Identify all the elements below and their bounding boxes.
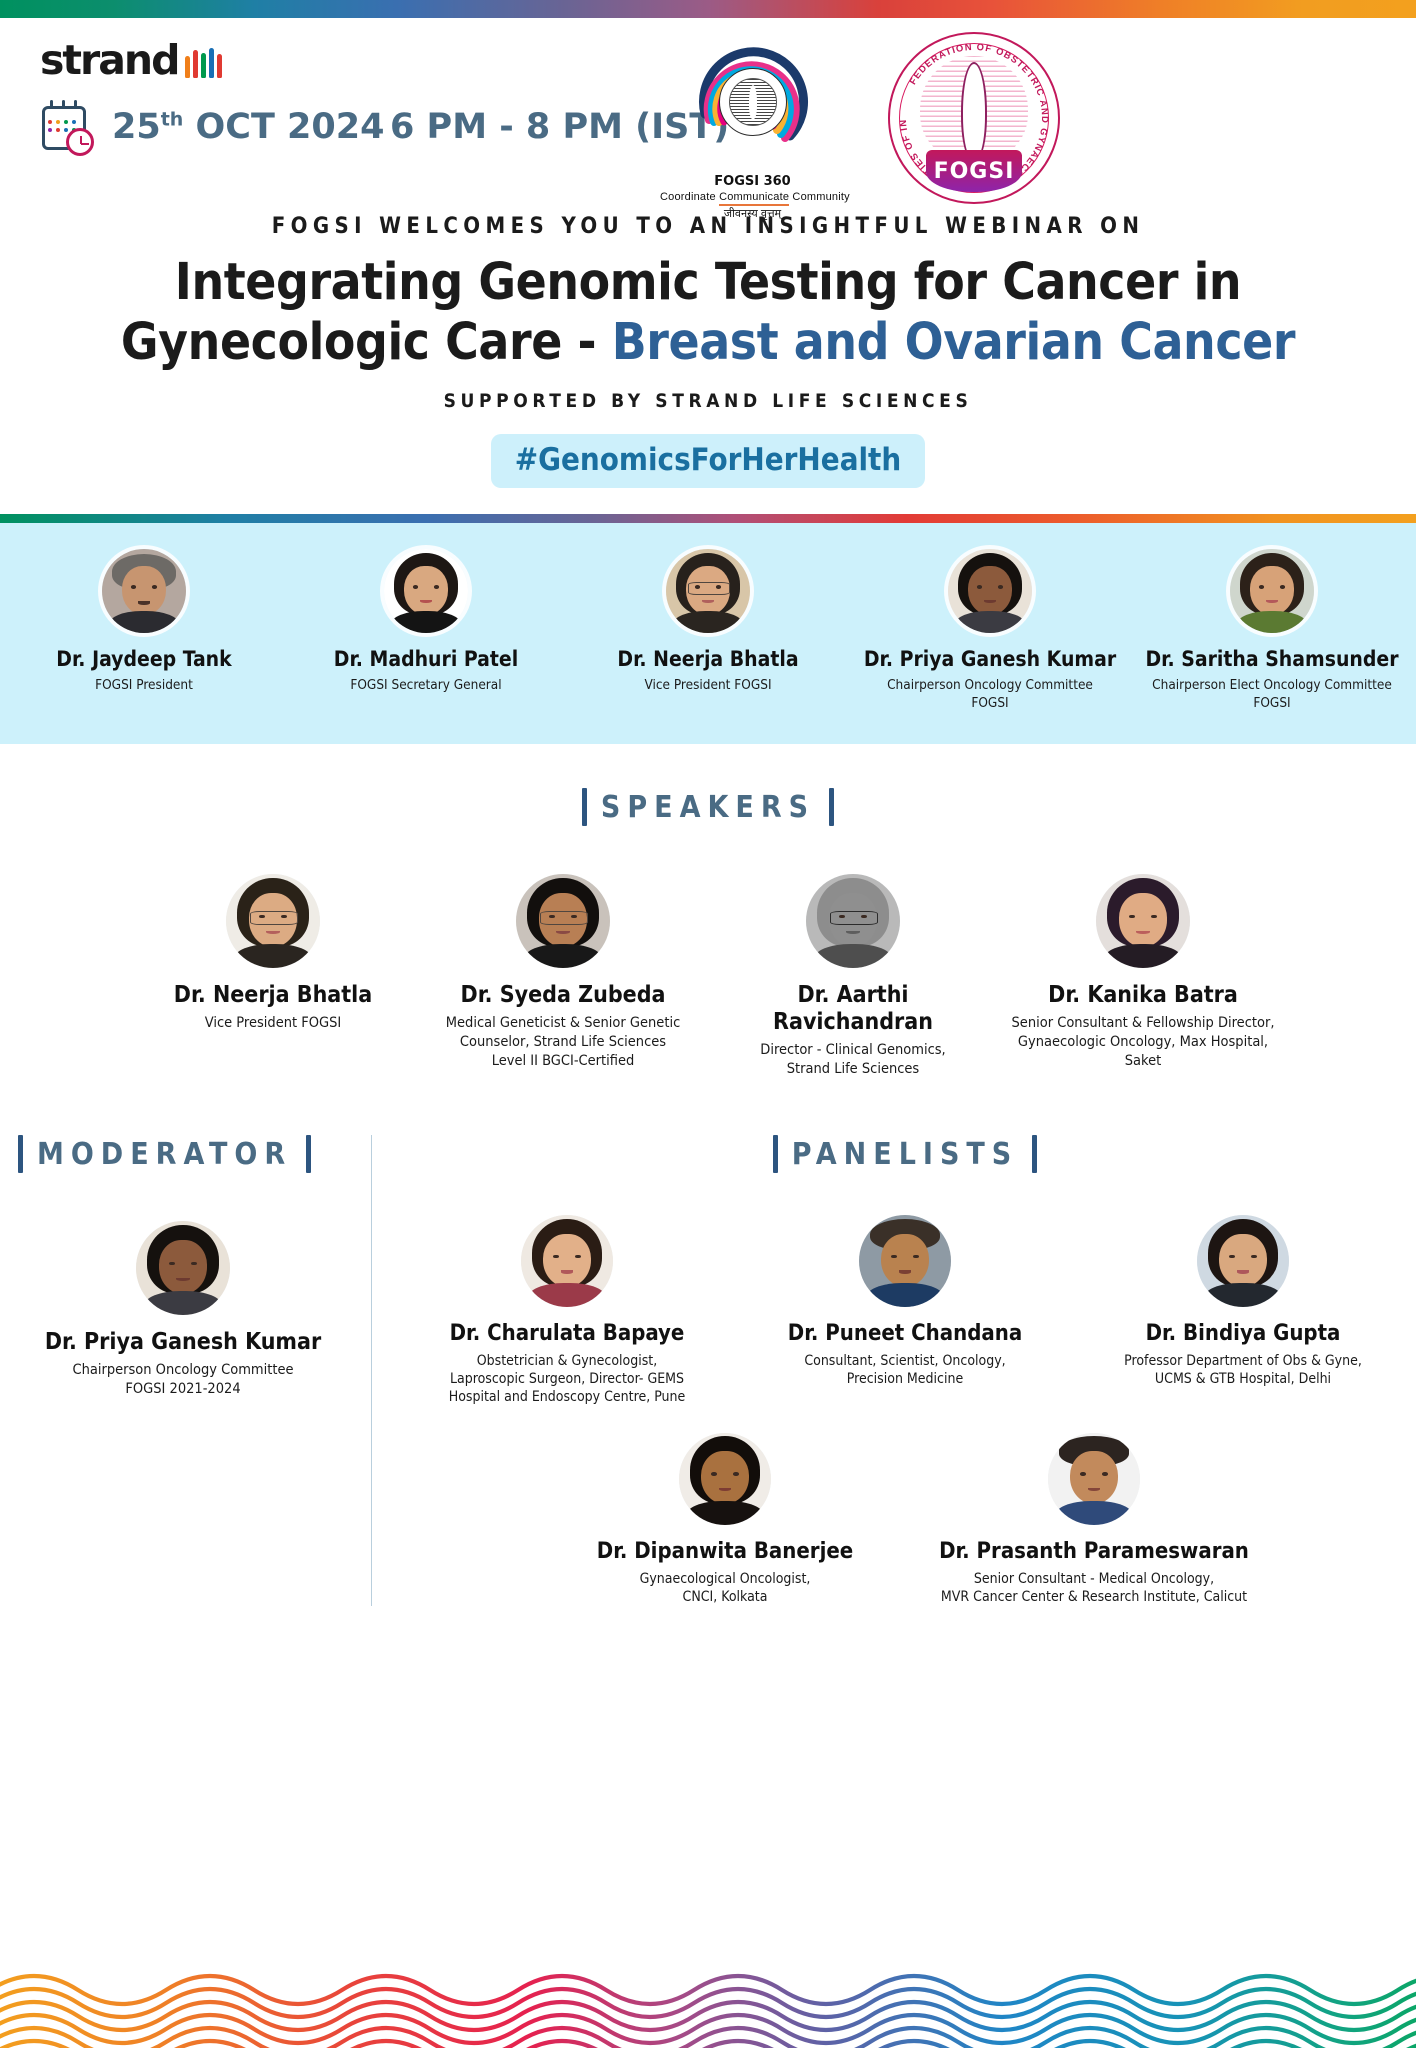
event-date: 25th OCT 2024 bbox=[112, 107, 384, 147]
panelists-row-1: Dr. Charulata Bapaye Obstetrician & Gyne… bbox=[394, 1215, 1416, 1407]
fogsi-emblem-outer-ring: FEDERATION OF OBSTETRIC AND GYNAECOLOGIC… bbox=[888, 32, 1060, 204]
heading-bar-right-icon bbox=[829, 788, 834, 826]
moderator-heading-label: MODERATOR bbox=[37, 1137, 292, 1172]
panelist-role: Obstetrician & Gynecologist, Laproscopic… bbox=[406, 1352, 728, 1407]
dignitary-card: Dr. Madhuri Patel FOGSI Secretary Genera… bbox=[285, 549, 567, 694]
fogsi-emblem-ribbon: FOGSI bbox=[926, 150, 1022, 192]
avatar bbox=[1197, 1215, 1289, 1307]
speakers-heading-label: SPEAKERS bbox=[601, 790, 815, 825]
dignitaries-band: Dr. Jaydeep Tank FOGSI President Dr. Mad… bbox=[0, 523, 1416, 744]
panelists-heading-label: PANELISTS bbox=[792, 1137, 1018, 1172]
fogsi-360-tagline: Coordinate Communicate Community bbox=[660, 191, 845, 203]
moderator-name: Dr. Priya Ganesh Kumar bbox=[26, 1329, 340, 1356]
speaker-role: Senior Consultant & Fellowship Director,… bbox=[1006, 1014, 1280, 1071]
panelists-column: PANELISTS Dr. Charulata Bapaye Obstetric… bbox=[372, 1135, 1416, 1606]
supported-by-text: SUPPORTED BY STRAND LIFE SCIENCES bbox=[0, 390, 1416, 412]
fogsi-360-title: FOGSI 360 bbox=[660, 174, 845, 189]
bottom-wave-decoration bbox=[0, 1940, 1416, 2048]
strand-life-sciences-logo: strand bbox=[40, 40, 222, 81]
avatar bbox=[806, 874, 900, 968]
avatar bbox=[1230, 549, 1314, 633]
avatar bbox=[666, 549, 750, 633]
avatar bbox=[1048, 1433, 1140, 1525]
panelist-role: Gynaecological Oncologist, CNCI, Kolkata bbox=[564, 1570, 886, 1606]
speakers-row: Dr. Neerja Bhatla Vice President FOGSI D… bbox=[0, 874, 1416, 1079]
moderator-heading: MODERATOR bbox=[18, 1135, 371, 1173]
panelist-name: Dr. Bindiya Gupta bbox=[1082, 1321, 1404, 1347]
avatar bbox=[521, 1215, 613, 1307]
speaker-card: Dr. Neerja Bhatla Vice President FOGSI bbox=[128, 874, 418, 1033]
avatar bbox=[226, 874, 320, 968]
moderator-panelists-section: MODERATOR Dr. Priya Ganesh Kumar Chairpe… bbox=[0, 1135, 1416, 1606]
speakers-section: SPEAKERS Dr. Neerja Bhatla Vice Presiden… bbox=[0, 744, 1416, 1079]
speaker-name: Dr. Syeda Zubeda bbox=[426, 982, 700, 1009]
speaker-role: Director - Clinical Genomics, Strand Lif… bbox=[716, 1041, 990, 1079]
dignitary-role: Chairperson Oncology Committee FOGSI bbox=[857, 677, 1123, 712]
dignitary-name: Dr. Saritha Shamsunder bbox=[1139, 647, 1405, 672]
panelist-card: Dr. Dipanwita Banerjee Gynaecological On… bbox=[556, 1433, 894, 1606]
moderator-card: Dr. Priya Ganesh Kumar Chairperson Oncol… bbox=[18, 1221, 348, 1399]
dignitaries-row: Dr. Jaydeep Tank FOGSI President Dr. Mad… bbox=[0, 549, 1416, 712]
dignitary-role: FOGSI Secretary General bbox=[293, 677, 559, 695]
title-line-2: Gynecologic Care - Breast and Ovarian Ca… bbox=[40, 313, 1376, 373]
band-gradient-rule bbox=[0, 514, 1416, 523]
avatar bbox=[516, 874, 610, 968]
poster-header: strand 25th OCT 2024 6 bbox=[0, 18, 1416, 200]
avatar bbox=[1096, 874, 1190, 968]
fogsi-360-word-community: Community bbox=[792, 191, 849, 203]
panelist-card: Dr. Prasanth Parameswaran Senior Consult… bbox=[894, 1433, 1294, 1606]
fogsi-emblem-logo: FEDERATION OF OBSTETRIC AND GYNAECOLOGIC… bbox=[888, 32, 1063, 207]
webinar-poster: strand 25th OCT 2024 6 bbox=[0, 0, 1416, 2048]
dignitary-card: Dr. Priya Ganesh Kumar Chairperson Oncol… bbox=[849, 549, 1131, 712]
dignitary-card: Dr. Neerja Bhatla Vice President FOGSI bbox=[567, 549, 849, 694]
avatar bbox=[384, 549, 468, 633]
title-highlight: Breast and Ovarian Cancer bbox=[612, 313, 1295, 372]
strand-logo-text: strand bbox=[40, 40, 178, 81]
top-gradient-bar bbox=[0, 0, 1416, 18]
panelist-role: Professor Department of Obs & Gyne, UCMS… bbox=[1082, 1352, 1404, 1388]
dignitary-role: FOGSI President bbox=[11, 677, 277, 695]
panelist-card: Dr. Puneet Chandana Consultant, Scientis… bbox=[736, 1215, 1074, 1388]
speaker-name: Dr. Aarthi Ravichandran bbox=[716, 982, 990, 1036]
dignitary-role: Chairperson Elect Oncology Committee FOG… bbox=[1139, 677, 1405, 712]
calendar-clock-icon bbox=[40, 100, 96, 156]
speaker-card: Dr. Kanika Batra Senior Consultant & Fel… bbox=[998, 874, 1288, 1071]
fogsi-360-ring-icon bbox=[685, 34, 820, 169]
fogsi-360-logo: FOGSI 360 Coordinate Communicate Communi… bbox=[660, 34, 845, 221]
panelist-role: Senior Consultant - Medical Oncology, MV… bbox=[902, 1570, 1286, 1606]
fogsi-emblem-word: FOGSI bbox=[934, 159, 1015, 184]
avatar bbox=[859, 1215, 951, 1307]
fogsi-360-word-communicate: Communicate bbox=[719, 191, 789, 206]
heading-bar-left-icon bbox=[582, 788, 587, 826]
dignitary-name: Dr. Priya Ganesh Kumar bbox=[857, 647, 1123, 672]
avatar bbox=[136, 1221, 230, 1315]
panelists-row-2: Dr. Dipanwita Banerjee Gynaecological On… bbox=[394, 1433, 1416, 1606]
speaker-card: Dr. Aarthi Ravichandran Director - Clini… bbox=[708, 874, 998, 1079]
hashtag-badge: #GenomicsForHerHealth bbox=[491, 434, 926, 488]
panelist-name: Dr. Charulata Bapaye bbox=[406, 1321, 728, 1347]
panelist-role: Consultant, Scientist, Oncology, Precisi… bbox=[744, 1352, 1066, 1388]
heading-bar-right-icon bbox=[306, 1135, 311, 1173]
heading-bar-left-icon bbox=[18, 1135, 23, 1173]
dignitary-card: Dr. Jaydeep Tank FOGSI President bbox=[3, 549, 285, 694]
dignitary-role: Vice President FOGSI bbox=[575, 677, 841, 695]
dignitary-card: Dr. Saritha Shamsunder Chairperson Elect… bbox=[1131, 549, 1413, 712]
avatar bbox=[679, 1433, 771, 1525]
speaker-card: Dr. Syeda Zubeda Medical Geneticist & Se… bbox=[418, 874, 708, 1071]
dignitary-name: Dr. Jaydeep Tank bbox=[11, 647, 277, 672]
panelist-card: Dr. Bindiya Gupta Professor Department o… bbox=[1074, 1215, 1412, 1388]
panelist-card: Dr. Charulata Bapaye Obstetrician & Gyne… bbox=[398, 1215, 736, 1407]
heading-bar-left-icon bbox=[773, 1135, 778, 1173]
event-datetime: 25th OCT 2024 6 PM - 8 PM (IST) bbox=[40, 100, 729, 156]
avatar bbox=[948, 549, 1032, 633]
fogsi-360-hindi-motto: जीवनस्य वृत्तम् bbox=[660, 206, 845, 221]
speaker-name: Dr. Kanika Batra bbox=[1006, 982, 1280, 1009]
heading-bar-right-icon bbox=[1032, 1135, 1037, 1173]
panelist-name: Dr. Dipanwita Banerjee bbox=[564, 1539, 886, 1565]
avatar bbox=[102, 549, 186, 633]
speakers-heading: SPEAKERS bbox=[0, 788, 1416, 826]
speaker-role: Vice President FOGSI bbox=[136, 1014, 410, 1033]
moderator-column: MODERATOR Dr. Priya Ganesh Kumar Chairpe… bbox=[0, 1135, 372, 1606]
page-title: Integrating Genomic Testing for Cancer i… bbox=[0, 253, 1416, 372]
speaker-name: Dr. Neerja Bhatla bbox=[136, 982, 410, 1009]
speaker-role: Medical Geneticist & Senior Genetic Coun… bbox=[426, 1014, 700, 1071]
title-line-1: Integrating Genomic Testing for Cancer i… bbox=[40, 253, 1376, 313]
dignitary-name: Dr. Madhuri Patel bbox=[293, 647, 559, 672]
dignitary-name: Dr. Neerja Bhatla bbox=[575, 647, 841, 672]
fogsi-360-word-coordinate: Coordinate bbox=[660, 191, 716, 203]
moderator-role: Chairperson Oncology Committee FOGSI 202… bbox=[26, 1361, 340, 1399]
panelists-heading: PANELISTS bbox=[394, 1135, 1416, 1173]
strand-logo-bars-icon bbox=[185, 48, 222, 81]
panelist-name: Dr. Prasanth Parameswaran bbox=[902, 1539, 1286, 1565]
panelist-name: Dr. Puneet Chandana bbox=[744, 1321, 1066, 1347]
fogsi-seal-small-icon bbox=[719, 68, 787, 136]
